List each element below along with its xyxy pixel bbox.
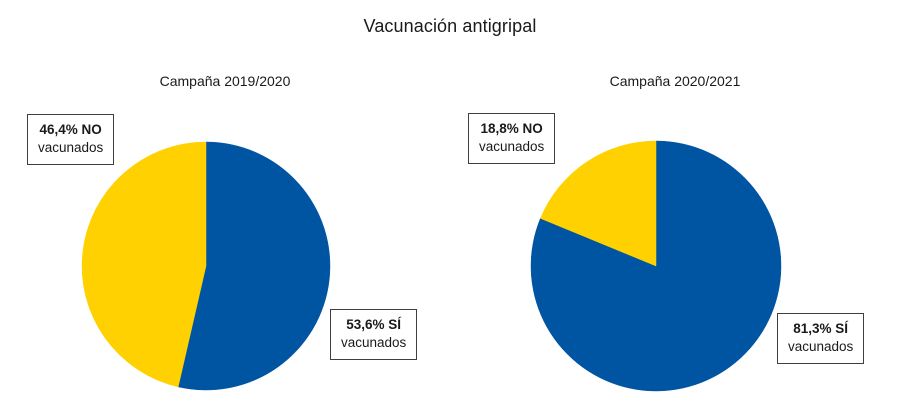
pie-panel-2020-2021: Campaña 2020/2021 18,8% NO vacunados 81,… bbox=[450, 0, 900, 406]
callout-si-vacunados-right: 81,3% SÍ vacunados bbox=[777, 313, 864, 364]
pie-svg-right bbox=[531, 141, 781, 391]
callout-si-vacunados-left: 53,6% SÍ vacunados bbox=[330, 309, 417, 360]
callout-no-vacunados-right: 18,8% NO vacunados bbox=[468, 113, 555, 164]
callout-si-who-right: vacunados bbox=[788, 338, 853, 356]
pie-chart-2019-2020 bbox=[82, 142, 330, 390]
pie-chart-2020-2021 bbox=[531, 141, 781, 391]
callout-si-who-left: vacunados bbox=[341, 334, 406, 352]
callout-no-who-left: vacunados bbox=[38, 139, 103, 157]
callout-no-vacunados-left: 46,4% NO vacunados bbox=[27, 114, 114, 165]
callout-no-pct-right: 18,8% NO bbox=[479, 120, 544, 138]
panel-subtitle-right: Campaña 2020/2021 bbox=[450, 73, 900, 89]
callout-si-pct-left: 53,6% SÍ bbox=[341, 316, 406, 334]
pie-panel-2019-2020: Campaña 2019/2020 46,4% NO vacunados 53,… bbox=[0, 0, 450, 406]
callout-no-pct-left: 46,4% NO bbox=[38, 121, 103, 139]
callout-si-pct-right: 81,3% SÍ bbox=[788, 320, 853, 338]
callout-no-who-right: vacunados bbox=[479, 138, 544, 156]
panel-subtitle-left: Campaña 2019/2020 bbox=[0, 73, 450, 89]
pie-svg-left bbox=[82, 142, 330, 390]
